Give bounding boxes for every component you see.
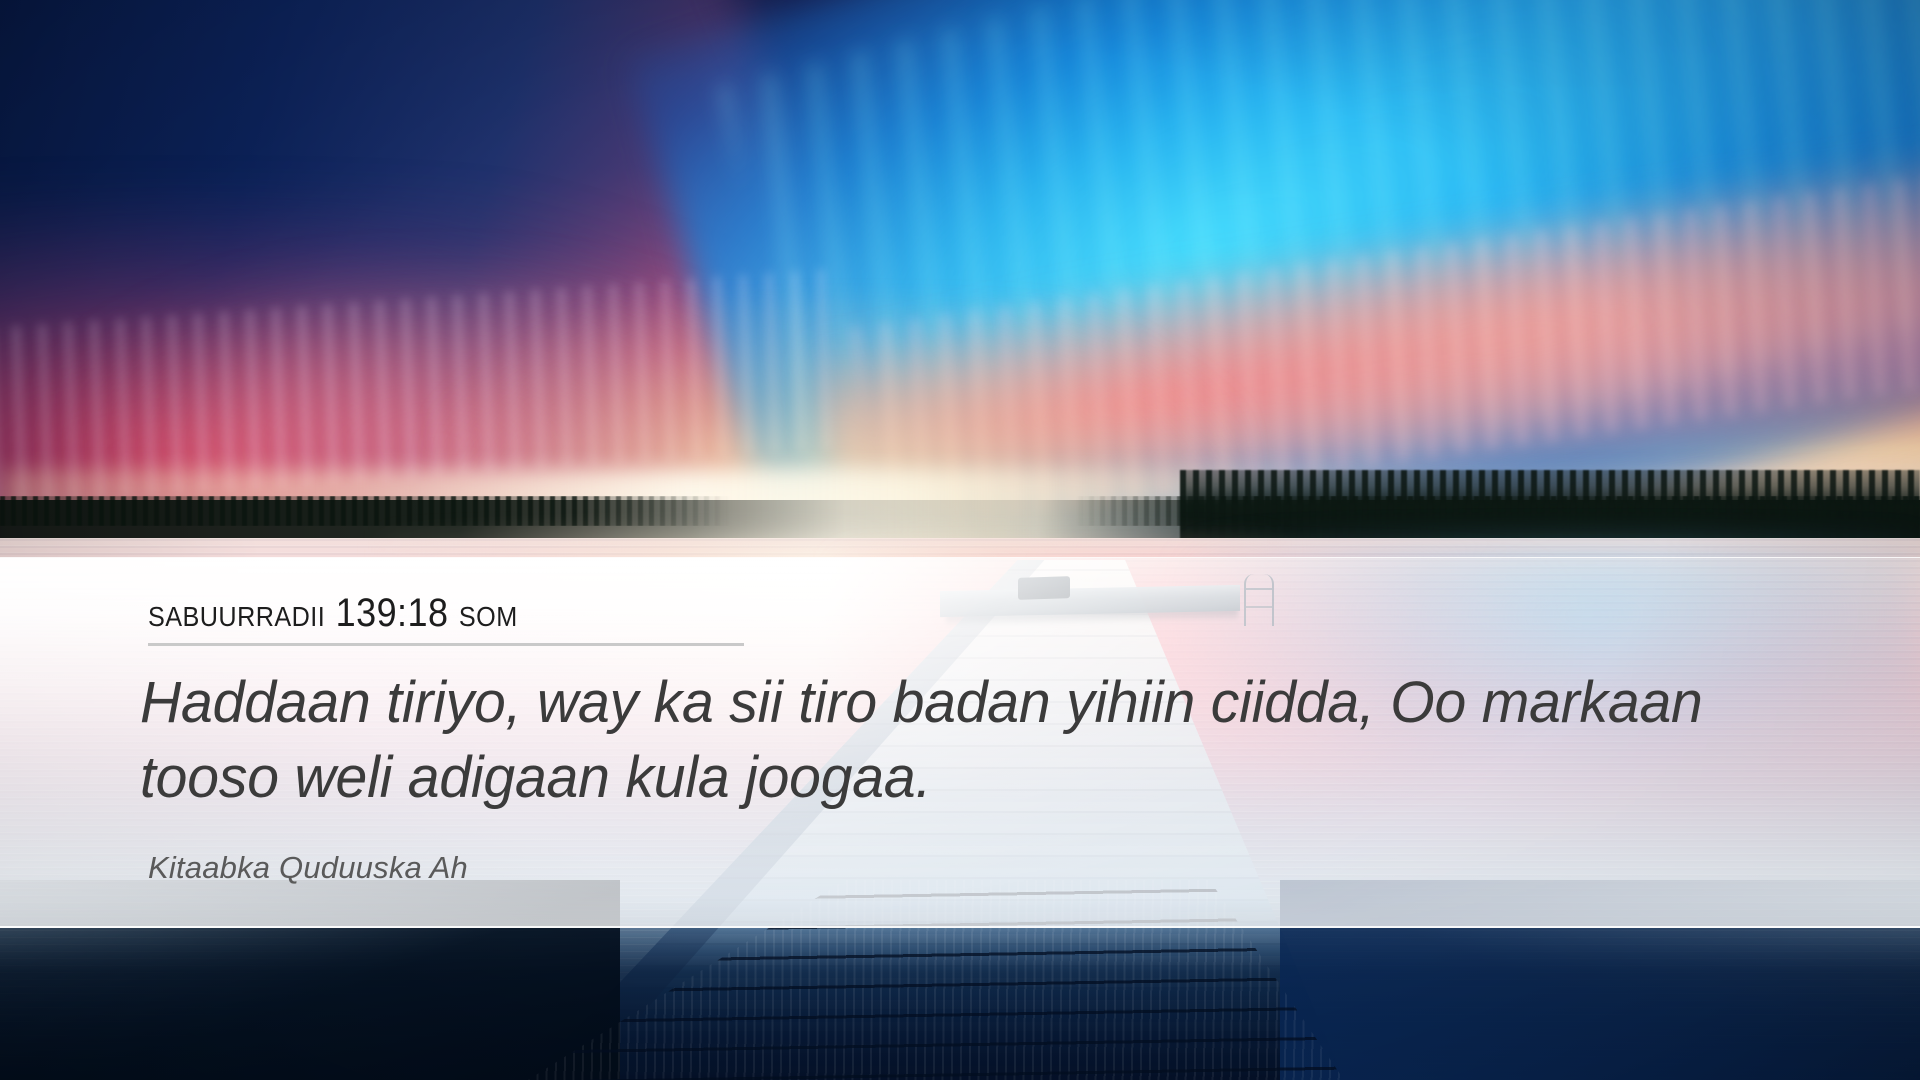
bible-translation-attribution: Kitaabka Quduuska Ah <box>148 850 468 886</box>
verse-reference: Sabuurradii 139:18 SOM <box>148 591 518 636</box>
verse-reference-underline <box>148 643 744 646</box>
right-shore-trees <box>1180 470 1920 545</box>
verse-content: Sabuurradii 139:18 SOM Haddaan tiriyo, w… <box>0 558 1920 928</box>
verse-image-canvas: Sabuurradii 139:18 SOM Haddaan tiriyo, w… <box>0 0 1920 1080</box>
verse-text: Haddaan tiriyo, way ka sii tiro badan yi… <box>140 665 1805 816</box>
